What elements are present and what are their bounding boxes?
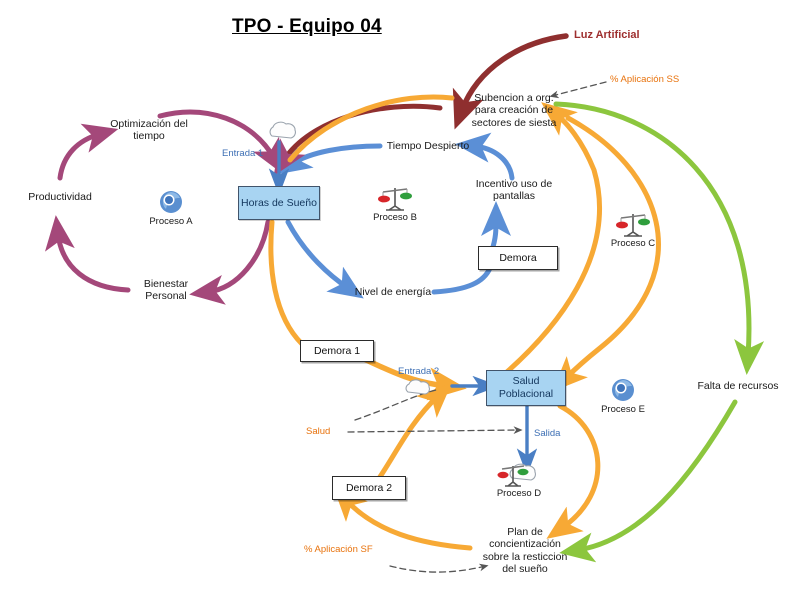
process-proceso-a[interactable]: Proceso A xyxy=(136,186,206,227)
variable-productividad: Productividad xyxy=(10,191,110,203)
cloud-source-entrada-2 xyxy=(406,380,429,394)
process-label: Proceso D xyxy=(484,488,554,499)
annotation-salud: Salud xyxy=(306,426,330,437)
variable-bienestar-personal: Bienestar Personal xyxy=(126,278,206,303)
variable-tiempo-despierto: Tiempo Despierto xyxy=(378,140,478,152)
balance-scale-icon xyxy=(598,208,668,238)
annotation-luz-artificial: Luz Artificial xyxy=(574,29,640,41)
cloud-source-entrada-1 xyxy=(270,122,295,138)
diagram-canvas: TPO - Equipo 04 xyxy=(0,0,800,592)
flow-label-salida: Salida xyxy=(534,428,560,439)
annotation-aplicacion-ss: % Aplicación SS xyxy=(610,74,679,85)
variable-falta-de-recursos: Falta de recursos xyxy=(686,380,790,392)
process-label: Proceso E xyxy=(588,404,658,415)
process-proceso-c[interactable]: Proceso C xyxy=(598,208,668,249)
balance-scale-icon xyxy=(360,182,430,212)
process-proceso-e[interactable]: Proceso E xyxy=(588,374,658,415)
flow-label-entrada-1: Entrada 1 xyxy=(222,148,263,159)
delay-demora[interactable]: Demora xyxy=(478,246,558,270)
variable-incentivo-uso-de-pantallas: Incentivo uso de pantallas xyxy=(466,178,562,203)
variable-nivel-de-energia: Nivel de energía xyxy=(348,286,438,298)
process-proceso-b[interactable]: Proceso B xyxy=(360,182,430,223)
blue-swirl-icon xyxy=(588,374,658,404)
delay-demora-2[interactable]: Demora 2 xyxy=(332,476,406,500)
variable-plan-concientizacion: Plan de concientización sobre la resticc… xyxy=(466,526,584,576)
stock-salud-poblacional[interactable]: Salud Poblacional xyxy=(486,370,566,406)
process-label: Proceso A xyxy=(136,216,206,227)
variable-optimizacion-del-tiempo: Optimización del tiempo xyxy=(94,118,204,143)
process-proceso-d[interactable]: Proceso D xyxy=(484,458,554,499)
delay-demora-1[interactable]: Demora 1 xyxy=(300,340,374,362)
blue-swirl-icon xyxy=(136,186,206,216)
flow-label-entrada-2: Entrada 2 xyxy=(398,366,439,377)
variable-subencion-org-siesta: Subencion a org. para creación de sector… xyxy=(460,92,568,129)
annotation-aplicacion-sf: % Aplicación SF xyxy=(304,544,373,555)
process-label: Proceso B xyxy=(360,212,430,223)
process-label: Proceso C xyxy=(598,238,668,249)
balance-scale-cloud-icon xyxy=(484,458,554,488)
stock-horas-de-sueno[interactable]: Horas de Sueño xyxy=(238,186,320,220)
